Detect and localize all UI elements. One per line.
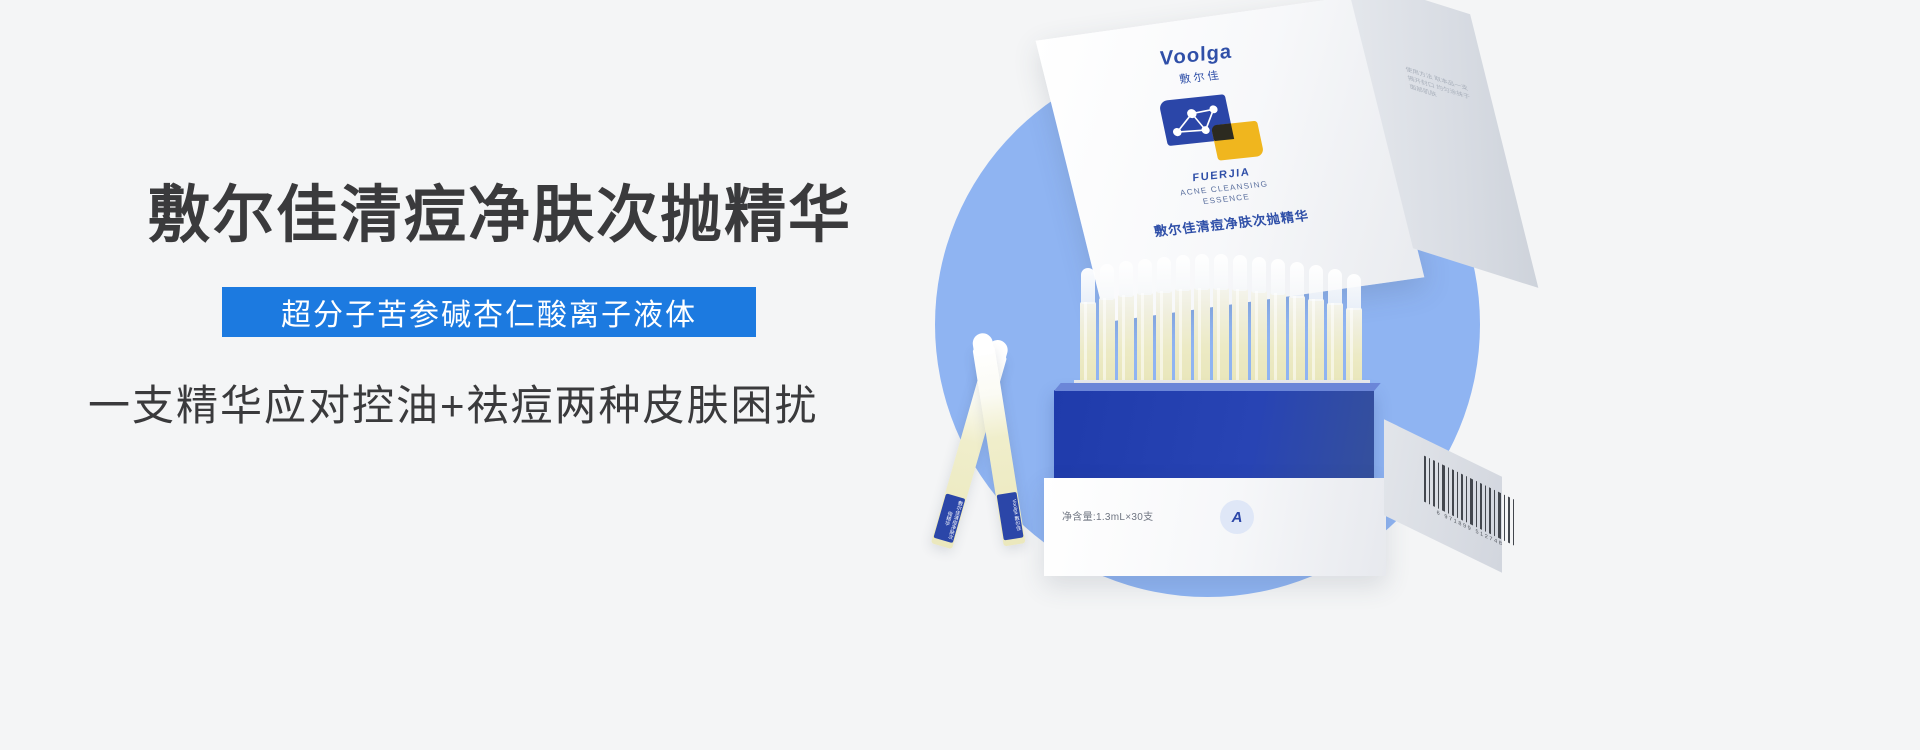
copy-block: 敷尔佳清痘净肤次抛精华 超分子苦参碱杏仁酸离子液体 一支精华应对控油+祛痘两种皮… — [0, 0, 1000, 750]
seal-logo-icon: A — [1220, 500, 1254, 534]
sachet-label-text: 敷尔佳清痘净肤次抛精华 — [933, 493, 965, 543]
box-base: 净含量:1.3mL×30支 A — [1044, 478, 1386, 576]
lid-artwork: Voolga 敷尔佳 — [1078, 32, 1349, 243]
box-blue-band-top — [1054, 383, 1381, 391]
box-blue-band — [1054, 390, 1374, 484]
molecule-network-icon — [1158, 94, 1234, 146]
product-banner: 敷尔佳清痘净肤次抛精华 超分子苦参碱杏仁酸离子液体 一支精华应对控油+祛痘两种皮… — [0, 0, 1920, 750]
headline: 敷尔佳清痘净肤次抛精华 — [148, 178, 852, 254]
net-weight-label: 净含量:1.3mL×30支 — [1062, 508, 1153, 523]
sachet-label-text: Voolga 敷尔佳 — [997, 492, 1024, 541]
sachet-cap-icon — [971, 332, 994, 357]
badge-label: 超分子苦参碱杏仁酸离子液体 — [281, 290, 697, 334]
molecule-logo-icon — [1158, 91, 1264, 165]
loose-sachets: 敷尔佳清痘净肤次抛精华 Voolga 敷尔佳 — [940, 330, 1070, 570]
highlight-badge: 超分子苦参碱杏仁酸离子液体 — [222, 287, 756, 337]
product-image: Voolga 敷尔佳 — [880, 0, 1920, 750]
ampoule-tray — [1080, 258, 1362, 398]
subline: 一支精华应对控油+祛痘两种皮肤困扰 — [88, 378, 819, 434]
